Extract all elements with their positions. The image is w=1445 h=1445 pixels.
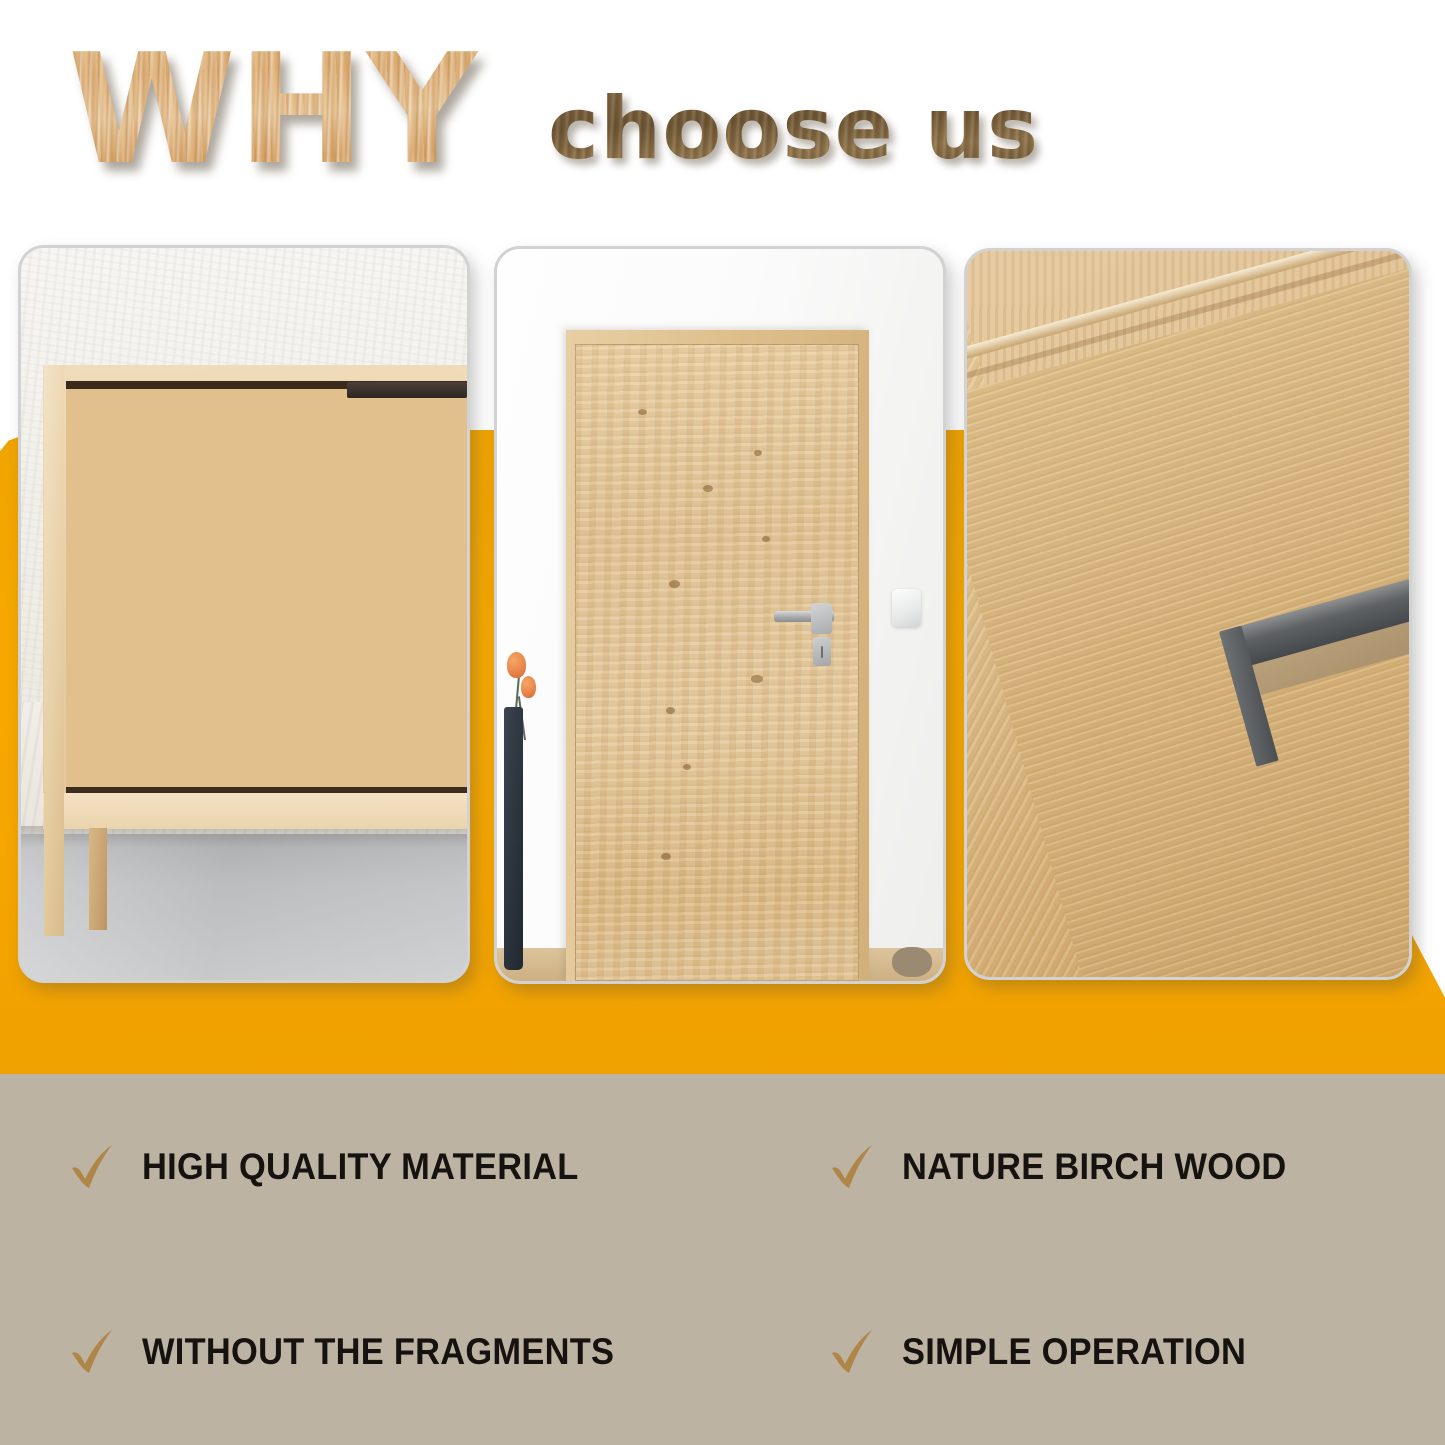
features-panel: HIGH QUALITY MATERIAL NATURE BIRCH WOOD … [0,1074,1445,1445]
floor-stone-decor [892,947,932,978]
wood-knot-icon [751,675,763,683]
birch-cabinet-photo[interactable] [18,245,470,983]
cabinet-leg-left [44,365,64,936]
check-icon [68,1326,120,1378]
page-subtitle-choose-us: choose us [548,86,1039,172]
wood-knot-icon [669,580,680,588]
feature-label: WITHOUT THE FRAGMENTS [142,1331,614,1373]
feature-item-nature-birch-wood: NATURE BIRCH WOOD [800,1141,1445,1193]
wood-knot-icon [754,450,762,456]
wall-light-switch [892,589,921,627]
drawer-handle-photo[interactable] [964,248,1412,980]
page-title-why: WHY [68,34,479,186]
poster-header: WHY choose us [0,0,1445,225]
wood-knot-icon [703,485,713,492]
cabinet-leg-middle [89,828,107,930]
feature-item-high-quality-material: HIGH QUALITY MATERIAL [0,1141,800,1193]
wood-knot-icon [661,853,671,860]
feature-item-simple-operation: SIMPLE OPERATION [800,1326,1445,1378]
cabinet-drawer-handle [347,382,467,398]
floor-vase [504,707,523,971]
door-handle-escutcheon [811,603,832,634]
check-icon [828,1141,880,1193]
door-lock-cylinder [813,637,832,666]
wood-knot-icon [666,707,675,714]
check-icon [828,1326,880,1378]
features-grid: HIGH QUALITY MATERIAL NATURE BIRCH WOOD … [0,1074,1445,1445]
poppy-flower-icon [507,652,527,678]
feature-item-without-the-fragments: WITHOUT THE FRAGMENTS [0,1326,800,1378]
wood-knot-icon [683,764,691,770]
cabinet-drawer-front [66,387,467,790]
poppy-flower-icon [521,676,536,698]
feature-label: HIGH QUALITY MATERIAL [142,1146,579,1188]
feature-label: NATURE BIRCH WOOD [902,1146,1286,1188]
cabinet-bottom-rail [43,793,467,830]
oak-door-photo-inner [497,249,943,981]
why-choose-us-poster: WHY choose us [0,0,1445,1445]
check-icon [68,1141,120,1193]
birch-cabinet-photo-inner [21,248,467,980]
drawer-handle-photo-inner [967,251,1409,977]
wood-knot-icon [762,536,770,542]
wood-knot-icon [638,409,647,415]
oak-door-photo[interactable] [494,246,946,984]
feature-label: SIMPLE OPERATION [902,1331,1246,1373]
